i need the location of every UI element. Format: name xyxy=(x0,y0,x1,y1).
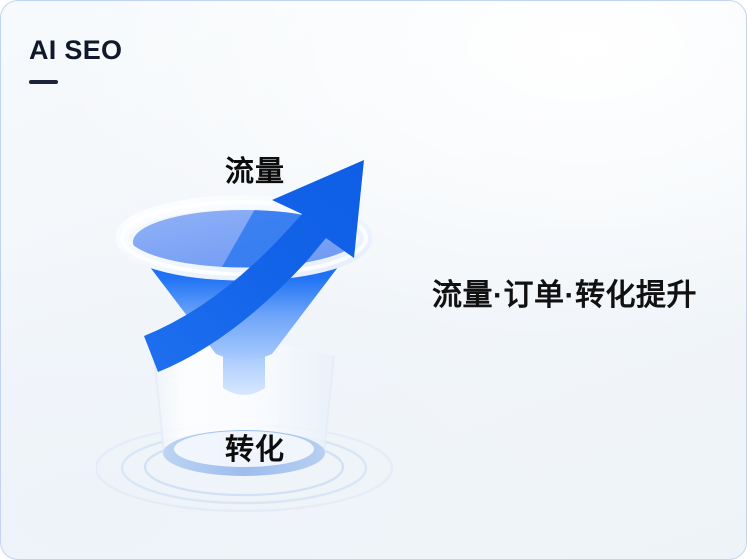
funnel-label-conversion: 转化 xyxy=(225,436,285,465)
title-underline-rule xyxy=(29,80,58,84)
funnel-label-traffic: 流量 xyxy=(225,158,285,187)
promo-card: AI SEO 流量·订单·转化提升 xyxy=(0,0,747,560)
page-title: AI SEO xyxy=(29,37,289,64)
header: AI SEO xyxy=(29,37,289,84)
tagline-text: 流量·订单·转化提升 xyxy=(432,279,697,312)
